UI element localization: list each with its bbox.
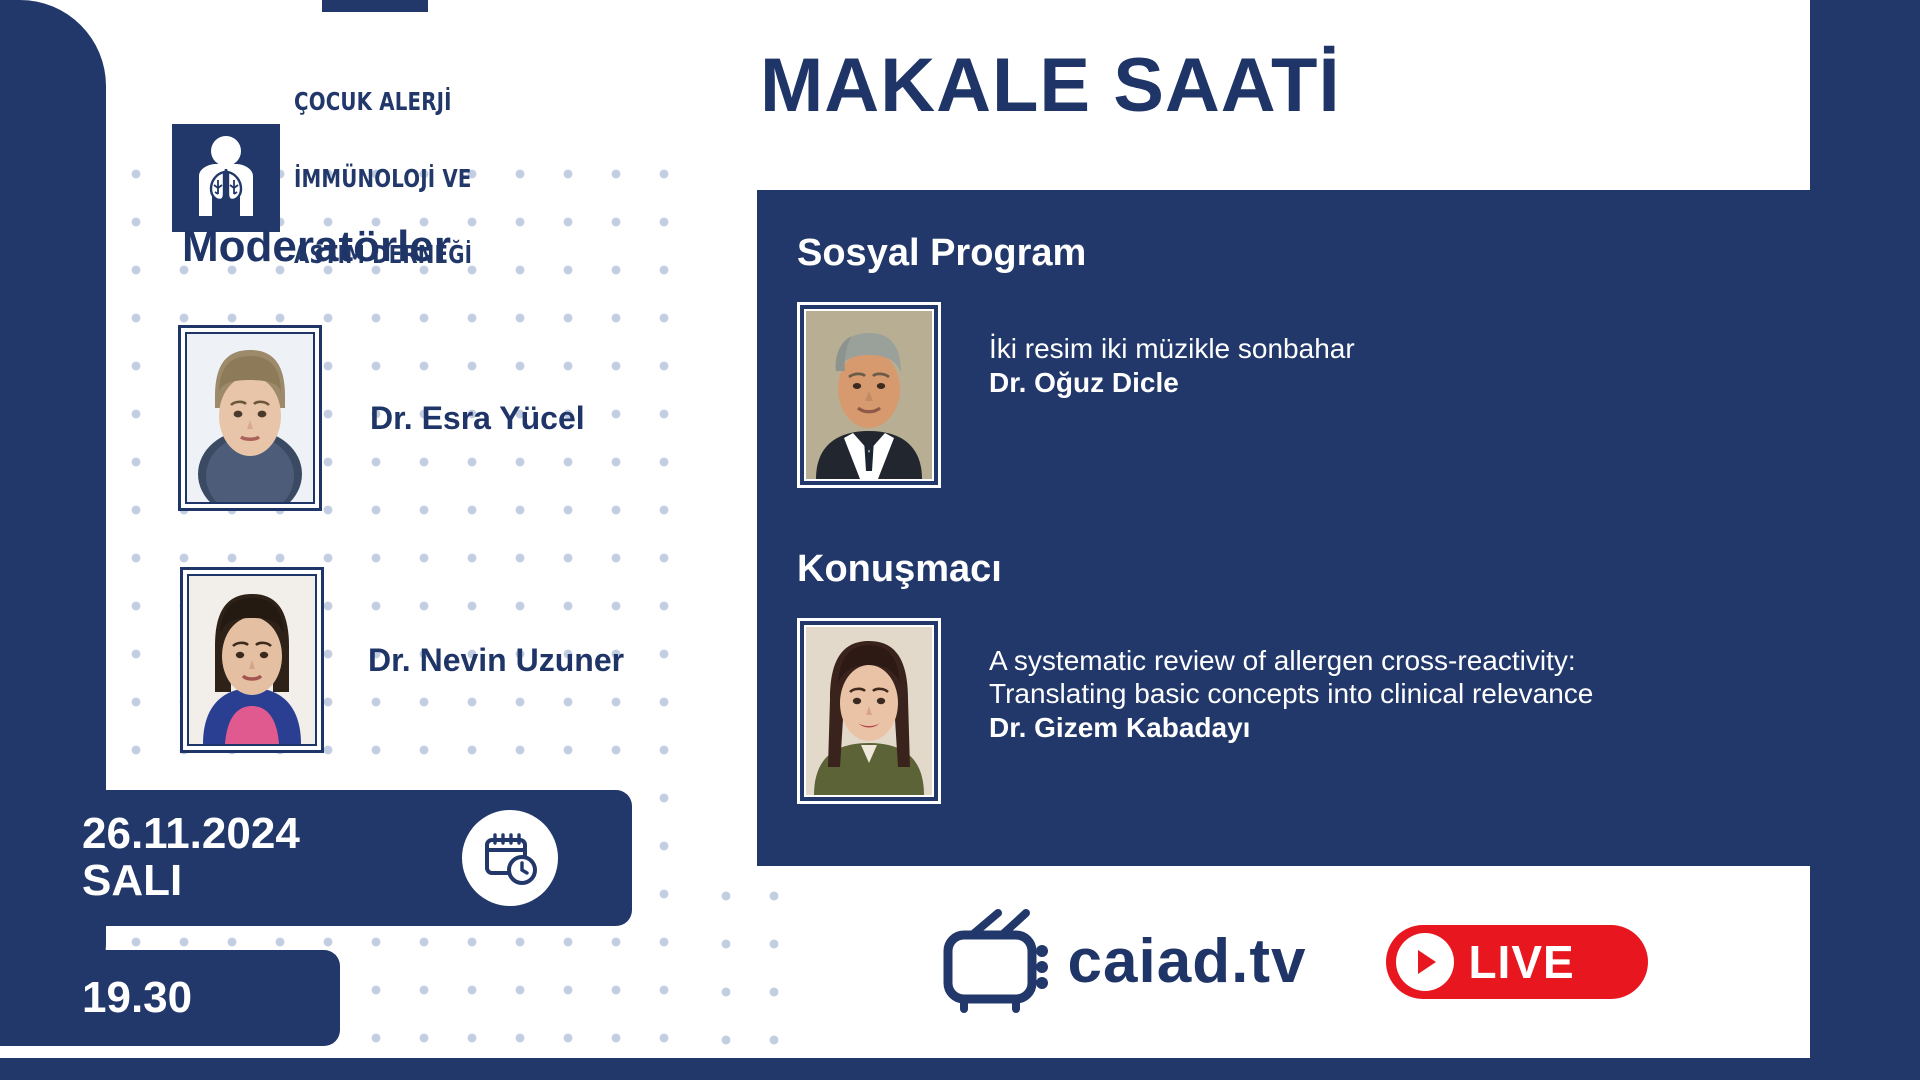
moderator-name: Dr. Esra Yücel bbox=[370, 400, 585, 437]
calendar-badge bbox=[462, 810, 558, 906]
calendar-clock-icon bbox=[481, 829, 539, 887]
moderator-photo-inner bbox=[185, 332, 315, 504]
play-icon bbox=[1408, 945, 1442, 979]
entry-photo-inner bbox=[804, 625, 934, 797]
avatar bbox=[806, 311, 932, 479]
date-value: 26.11.2024 bbox=[82, 811, 300, 858]
moderator-photo-frame bbox=[180, 567, 324, 753]
association-logo-text: ÇOCUK ALERJİ İMMÜNOLOJİ VE ASTIM DERNEĞİ bbox=[294, 38, 472, 319]
top-navy-tab bbox=[322, 0, 428, 12]
live-label: LIVE bbox=[1468, 939, 1574, 985]
moderator-name: Dr. Nevin Uzuner bbox=[368, 642, 624, 679]
entry-photo-frame bbox=[797, 618, 941, 804]
poster-canvas: ÇOCUK ALERJİ İMMÜNOLOJİ VE ASTIM DERNEĞİ… bbox=[0, 0, 1920, 1080]
avatar bbox=[187, 334, 313, 502]
entry-person: Dr. Oğuz Dicle bbox=[989, 367, 1355, 399]
speaker-entry: A systematic review of allergen cross-re… bbox=[797, 618, 1593, 804]
entry-text: A systematic review of allergen cross-re… bbox=[989, 644, 1593, 744]
time-value: 19.30 bbox=[82, 973, 192, 1023]
entry-photo-inner bbox=[804, 309, 934, 481]
date-text: 26.11.2024 SALI bbox=[82, 811, 300, 904]
moderator-photo-frame bbox=[178, 325, 322, 511]
program-card: Sosyal Program bbox=[757, 190, 1920, 866]
moderator-photo-inner bbox=[187, 574, 317, 746]
time-block: 19.30 bbox=[0, 950, 340, 1046]
entry-title: İki resim iki müzikle sonbahar bbox=[989, 332, 1355, 365]
social-program-entry: İki resim iki müzikle sonbahar Dr. Oğuz … bbox=[797, 302, 1355, 488]
date-block: 26.11.2024 SALI bbox=[0, 790, 632, 926]
caiad-tv-text: caiad.tv bbox=[1068, 931, 1307, 993]
bottom-navy-edge bbox=[0, 1058, 1920, 1080]
entry-title-line-2: Translating basic concepts into clinical… bbox=[989, 677, 1593, 710]
entry-person: Dr. Gizem Kabadayı bbox=[989, 712, 1593, 744]
entry-photo-frame bbox=[797, 302, 941, 488]
footer-bar: caiad.tv LIVE bbox=[780, 866, 1810, 1058]
entry-title-line-1: A systematic review of allergen cross-re… bbox=[989, 644, 1593, 677]
logo-line-1: ÇOCUK ALERJİ bbox=[294, 89, 472, 115]
avatar bbox=[189, 576, 315, 744]
entry-text: İki resim iki müzikle sonbahar Dr. Oğuz … bbox=[989, 332, 1355, 399]
live-badge[interactable]: LIVE bbox=[1386, 925, 1648, 999]
social-program-heading: Sosyal Program bbox=[797, 232, 1086, 275]
avatar bbox=[806, 627, 932, 795]
day-value: SALI bbox=[82, 858, 300, 905]
page-title: MAKALE SAATİ bbox=[760, 42, 1341, 129]
moderators-heading: Moderatörler bbox=[182, 222, 451, 272]
retro-tv-icon bbox=[942, 909, 1058, 1015]
association-logo: ÇOCUK ALERJİ İMMÜNOLOJİ VE ASTIM DERNEĞİ bbox=[172, 38, 497, 319]
footer-content: caiad.tv LIVE bbox=[780, 866, 1810, 1058]
play-button[interactable] bbox=[1396, 933, 1454, 991]
moderator-item: Dr. Nevin Uzuner bbox=[180, 567, 624, 753]
moderator-item: Dr. Esra Yücel bbox=[178, 325, 585, 511]
child-lungs-icon bbox=[172, 124, 280, 232]
logo-line-2: İMMÜNOLOJİ VE bbox=[294, 166, 472, 192]
caiad-tv-logo[interactable]: caiad.tv bbox=[942, 909, 1307, 1015]
speaker-heading: Konuşmacı bbox=[797, 548, 1002, 591]
